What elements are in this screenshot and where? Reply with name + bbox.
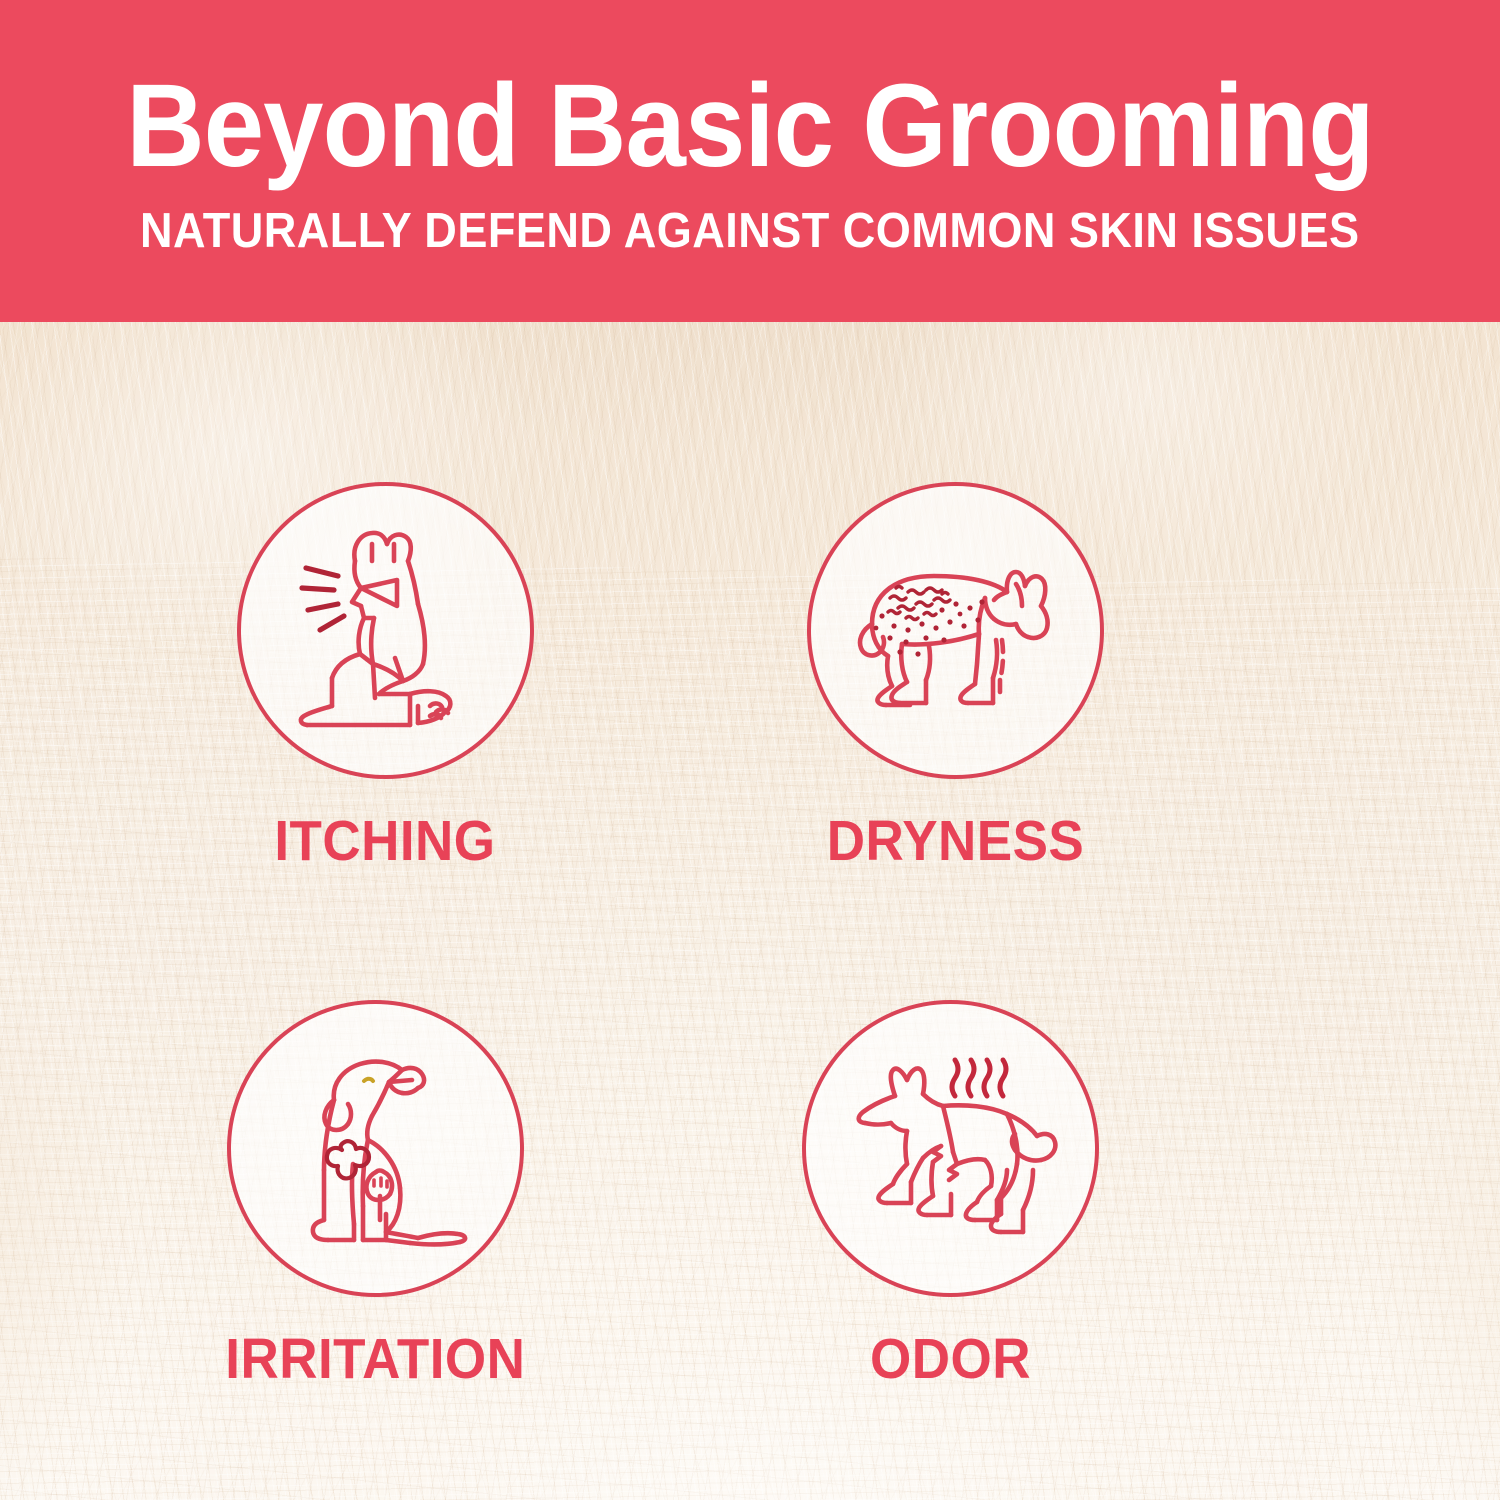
feature-label-dryness: DRYNESS bbox=[826, 813, 1084, 870]
paw-pad-lines bbox=[374, 1178, 387, 1187]
promo-image: Beyond Basic Grooming NATURALLY DEFEND A… bbox=[0, 0, 1500, 1500]
header-banner: Beyond Basic Grooming NATURALLY DEFEND A… bbox=[0, 0, 1500, 322]
feature-label-itching: ITCHING bbox=[274, 813, 495, 870]
dog-dandruff-icon bbox=[830, 506, 1080, 756]
icon-circle-odor bbox=[802, 1000, 1099, 1297]
page-title: Beyond Basic Grooming bbox=[126, 67, 1373, 185]
dog-irritated-patch-icon bbox=[250, 1024, 500, 1274]
icon-circle-itching bbox=[237, 482, 534, 779]
feature-label-irritation: IRRITATION bbox=[225, 1331, 525, 1388]
feature-dryness: DRYNESS bbox=[745, 482, 1165, 870]
icon-circle-dryness bbox=[807, 482, 1104, 779]
dog-odor-icon bbox=[825, 1024, 1075, 1274]
page-subtitle: NATURALLY DEFEND AGAINST COMMON SKIN ISS… bbox=[140, 207, 1359, 256]
icon-circle-irritation bbox=[227, 1000, 524, 1297]
feature-label-odor: ODOR bbox=[870, 1331, 1031, 1388]
feature-odor: ODOR bbox=[740, 1000, 1160, 1388]
itch-burst-lines bbox=[302, 568, 344, 630]
feature-grid: ITCHING bbox=[0, 322, 1500, 1500]
feature-itching: ITCHING bbox=[175, 482, 595, 870]
dandruff-squiggles bbox=[888, 586, 950, 619]
feature-irritation: IRRITATION bbox=[165, 1000, 585, 1388]
odor-wave-lines bbox=[952, 1060, 1006, 1096]
dog-scratching-icon bbox=[260, 506, 510, 756]
